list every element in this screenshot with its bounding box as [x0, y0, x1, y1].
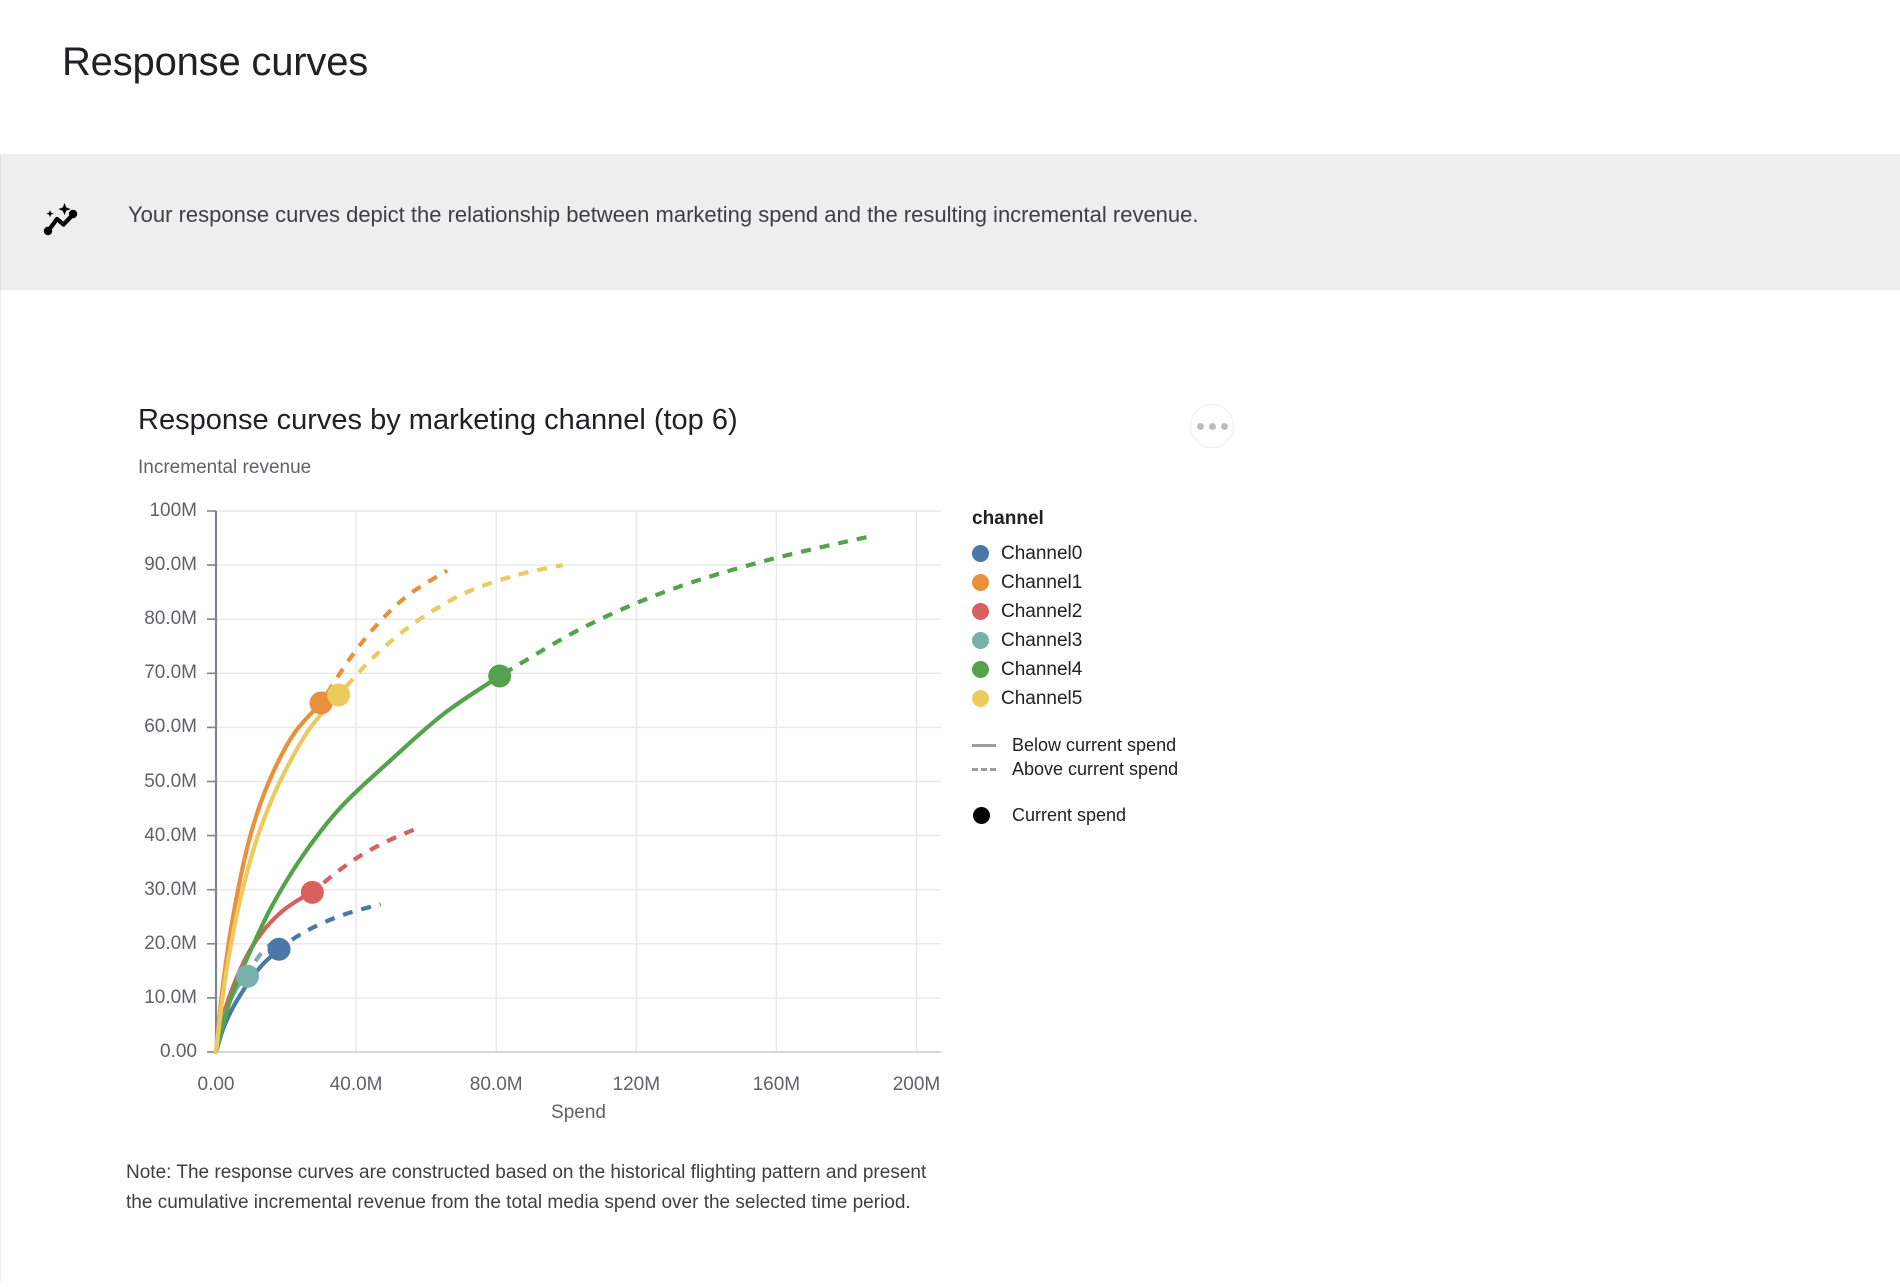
x-tick-label: 120M	[613, 1074, 661, 1096]
legend-item-label: Channel1	[1001, 572, 1082, 594]
y-tick-label: 30.0M	[60, 879, 197, 901]
legend-swatch-icon	[972, 690, 989, 707]
legend-item-label: Channel0	[1001, 543, 1082, 565]
more-options-button[interactable]	[1190, 404, 1234, 448]
legend-swatch-icon	[972, 545, 989, 562]
y-tick-label: 40.0M	[60, 825, 197, 847]
chart-note: Note: The response curves are constructe…	[126, 1158, 956, 1218]
legend-style-item[interactable]: Above current spend	[972, 757, 1272, 781]
legend-title: channel	[972, 508, 1272, 530]
legend-item-channel3[interactable]: Channel3	[972, 626, 1272, 655]
legend-item-label: Channel3	[1001, 630, 1082, 652]
chart-subtitle: Incremental revenue	[138, 457, 311, 479]
legend-item-channel0[interactable]: Channel0	[972, 539, 1272, 568]
chart-legend: channel Channel0Channel1Channel2Channel3…	[972, 508, 1272, 830]
legend-item-label: Channel4	[1001, 659, 1082, 681]
y-tick-label: 50.0M	[60, 771, 197, 793]
x-tick-label: 160M	[753, 1074, 801, 1096]
legend-series-list: Channel0Channel1Channel2Channel3Channel4…	[972, 539, 1272, 713]
legend-item-channel2[interactable]: Channel2	[972, 597, 1272, 626]
current-spend-dot-icon	[972, 807, 1000, 824]
legend-swatch-icon	[972, 632, 989, 649]
legend-item-label: Channel5	[1001, 688, 1082, 710]
y-tick-label: 10.0M	[60, 987, 197, 1009]
response-curves-page: Response curves Your response curves dep…	[0, 0, 1900, 1282]
legend-marker-list: Current spend	[972, 801, 1272, 830]
banner-text: Your response curves depict the relation…	[128, 202, 1199, 228]
y-tick-label: 20.0M	[60, 933, 197, 955]
legend-swatch-icon	[972, 661, 989, 678]
legend-style-list: Below current spendAbove current spend	[972, 733, 1272, 781]
legend-item-channel5[interactable]: Channel5	[972, 684, 1272, 713]
x-tick-label: 0.00	[198, 1074, 235, 1096]
x-tick-label: 40.0M	[330, 1074, 383, 1096]
dot-2-icon	[1209, 423, 1216, 430]
legend-style-label: Above current spend	[1012, 759, 1178, 780]
legend-spacer-2	[972, 781, 1272, 801]
legend-swatch-icon	[972, 603, 989, 620]
page-title: Response curves	[62, 40, 368, 85]
y-tick-label: 100M	[60, 500, 197, 522]
dot-3-icon	[1221, 423, 1228, 430]
legend-item-channel1[interactable]: Channel1	[972, 568, 1272, 597]
x-axis-title: Spend	[551, 1102, 606, 1124]
y-tick-label: 80.0M	[60, 608, 197, 630]
x-tick-label: 80.0M	[470, 1074, 523, 1096]
chart-card: Response curves by marketing channel (to…	[0, 290, 1900, 1282]
y-tick-label: 60.0M	[60, 716, 197, 738]
legend-item-channel4[interactable]: Channel4	[972, 655, 1272, 684]
legend-style-item[interactable]: Below current spend	[972, 733, 1272, 757]
page-header: Response curves	[0, 0, 1900, 155]
y-tick-label: 90.0M	[60, 554, 197, 576]
chart-title: Response curves by marketing channel (to…	[138, 404, 738, 437]
legend-marker-item[interactable]: Current spend	[972, 801, 1272, 830]
solid-line-icon	[972, 737, 1000, 754]
x-tick-label: 200M	[893, 1074, 941, 1096]
y-tick-label: 0.00	[60, 1041, 197, 1063]
y-tick-label: 70.0M	[60, 662, 197, 684]
legend-swatch-icon	[972, 574, 989, 591]
insights-sparkle-icon	[38, 197, 82, 241]
legend-style-label: Below current spend	[1012, 735, 1176, 756]
dot-1-icon	[1197, 423, 1204, 430]
legend-item-label: Channel2	[1001, 601, 1082, 623]
dashed-line-icon	[972, 761, 1000, 778]
legend-spacer	[972, 713, 1272, 733]
legend-marker-label: Current spend	[1012, 805, 1126, 826]
